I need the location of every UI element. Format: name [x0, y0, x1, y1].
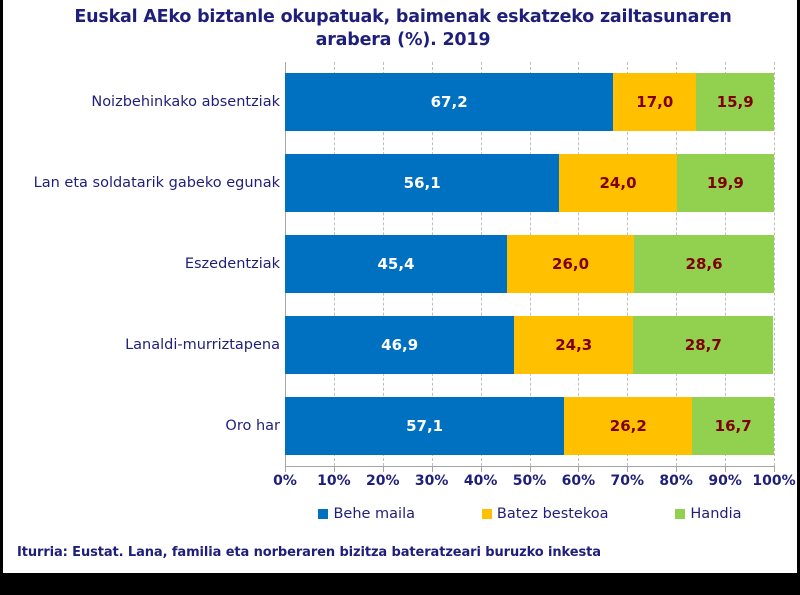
bar-row[interactable]: 45,426,028,6	[285, 235, 774, 293]
legend-swatch-icon	[482, 509, 492, 519]
legend-item-1[interactable]: Behe maila	[318, 506, 415, 522]
chart-title-line-2: arabera (%). 2019	[43, 29, 763, 52]
chart-legend: Behe mailaBatez bestekoaHandia	[285, 506, 775, 522]
bar-value-label: 28,6	[686, 255, 723, 273]
tick-mark	[578, 467, 579, 472]
tick-mark	[285, 467, 286, 472]
bar-segment-1[interactable]: 56,1	[285, 154, 559, 212]
bar-value-label: 19,9	[707, 174, 744, 192]
legend-label: Batez bestekoa	[497, 506, 609, 522]
bar-value-label: 24,3	[555, 336, 592, 354]
tick-mark	[676, 467, 677, 472]
bar-value-label: 16,7	[715, 417, 752, 435]
bar-value-label: 28,7	[685, 336, 722, 354]
bar-segment-2[interactable]: 24,0	[559, 154, 676, 212]
x-tick-label: 80%	[659, 473, 693, 489]
x-tick-label: 10%	[317, 473, 351, 489]
bar-segment-3[interactable]: 15,9	[696, 73, 774, 131]
source-note: Iturria: Eustat. Lana, familia eta norbe…	[17, 545, 601, 560]
bar-segment-3[interactable]: 28,6	[634, 235, 774, 293]
bar-value-label: 26,0	[552, 255, 589, 273]
tick-mark	[530, 467, 531, 472]
bar-row[interactable]: 57,126,216,7	[285, 397, 774, 455]
x-tick-label: 100%	[752, 473, 795, 489]
legend-swatch-icon	[318, 509, 328, 519]
bar-segment-3[interactable]: 28,7	[633, 316, 773, 374]
x-tick-label: 40%	[464, 473, 498, 489]
legend-item-3[interactable]: Handia	[675, 506, 741, 522]
bar-segment-3[interactable]: 16,7	[692, 397, 774, 455]
tick-mark	[432, 467, 433, 472]
tick-mark	[334, 467, 335, 472]
bar-segment-1[interactable]: 57,1	[285, 397, 564, 455]
bar-value-label: 15,9	[717, 93, 754, 111]
bar-segment-3[interactable]: 19,9	[677, 154, 774, 212]
x-tick-label: 30%	[415, 473, 449, 489]
gridline-100	[774, 62, 776, 466]
bar-segment-2[interactable]: 26,0	[507, 235, 634, 293]
bar-segment-2[interactable]: 26,2	[564, 397, 692, 455]
legend-item-2[interactable]: Batez bestekoa	[482, 506, 609, 522]
chart-title-line-1: Euskal AEko biztanle okupatuak, baimenak…	[74, 7, 731, 27]
category-label: Noizbehinkako absentziak	[15, 93, 280, 111]
plot-area: 67,217,015,956,124,019,945,426,028,646,9…	[285, 62, 774, 466]
category-label: Lanaldi-murriztapena	[15, 336, 280, 354]
bar-value-label: 57,1	[406, 417, 443, 435]
legend-swatch-icon	[675, 509, 685, 519]
page-title: Euskal AEko biztanle okupatuak, baimenak…	[43, 6, 763, 52]
bar-row[interactable]: 56,124,019,9	[285, 154, 774, 212]
bar-row[interactable]: 46,924,328,7	[285, 316, 774, 374]
legend-label: Behe maila	[333, 506, 415, 522]
category-label: Oro har	[15, 417, 280, 435]
x-tick-label: 70%	[611, 473, 645, 489]
tick-mark	[481, 467, 482, 472]
bar-segment-1[interactable]: 46,9	[285, 316, 514, 374]
category-label: Eszedentziak	[15, 255, 280, 273]
bar-value-label: 26,2	[610, 417, 647, 435]
x-tick-label: 90%	[708, 473, 742, 489]
bar-row[interactable]: 67,217,015,9	[285, 73, 774, 131]
bar-segment-2[interactable]: 24,3	[514, 316, 633, 374]
x-axis-ticks: 0%10%20%30%40%50%60%70%80%90%100%	[285, 467, 775, 491]
category-label: Lan eta soldatarik gabeko egunak	[15, 174, 280, 192]
bar-value-label: 45,4	[377, 255, 414, 273]
bar-value-label: 56,1	[404, 174, 441, 192]
legend-label: Handia	[690, 506, 741, 522]
x-tick-label: 50%	[513, 473, 547, 489]
x-tick-label: 20%	[366, 473, 400, 489]
x-tick-label: 60%	[562, 473, 596, 489]
chart-page: Euskal AEko biztanle okupatuak, baimenak…	[0, 0, 800, 595]
tick-mark	[725, 467, 726, 472]
x-tick-label: 0%	[273, 473, 297, 489]
tick-mark	[627, 467, 628, 472]
bar-value-label: 67,2	[431, 93, 468, 111]
tick-mark	[383, 467, 384, 472]
bar-segment-1[interactable]: 67,2	[285, 73, 613, 131]
bottom-frame-bar	[3, 573, 797, 595]
bar-segment-1[interactable]: 45,4	[285, 235, 507, 293]
category-axis-labels: Noizbehinkako absentziakLan eta soldatar…	[8, 62, 280, 466]
bar-value-label: 17,0	[636, 93, 673, 111]
bar-segment-2[interactable]: 17,0	[613, 73, 696, 131]
tick-mark	[774, 467, 775, 472]
bar-value-label: 46,9	[381, 336, 418, 354]
bar-value-label: 24,0	[600, 174, 637, 192]
